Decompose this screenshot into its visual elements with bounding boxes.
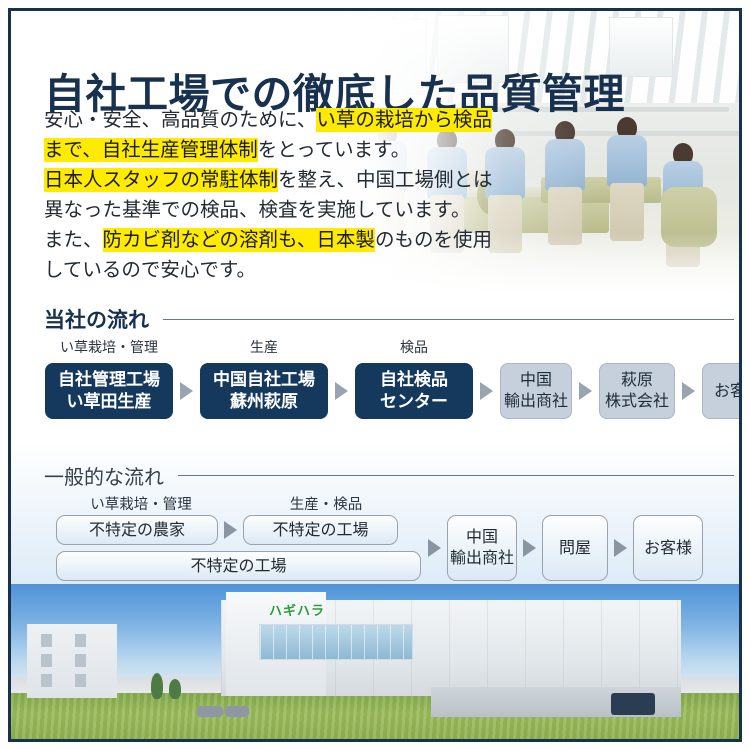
flow-box-inspection-center: 自社検品センター <box>355 363 473 419</box>
body-text: を整え、中国工場側とは <box>278 169 493 191</box>
glass-facade <box>259 624 413 660</box>
body-text: また、 <box>44 229 103 251</box>
body-line-4: 異なった基準での検品、検査を実施しています。 <box>44 195 494 225</box>
body-line-3: 日本人スタッフの常駐体制を整え、中国工場側とは <box>44 165 494 195</box>
tree <box>151 673 163 699</box>
flow-arrow-icon <box>523 539 536 557</box>
body-paragraph: 安心・安全、高品質のために、い草の栽培から検品 まで、自社生産管理体制をとってい… <box>44 105 494 285</box>
body-text: 安心・安全、高品質のために、 <box>44 109 316 131</box>
general-flow-heading: 一般的な流れ <box>44 461 734 490</box>
body-line-6: しているので安心です。 <box>44 255 494 285</box>
general-flow-caption: い草栽培・管理 <box>56 493 226 514</box>
flow-cell: お客様 <box>702 363 742 419</box>
office-building <box>27 624 117 698</box>
company-sign: ハギハラ <box>269 600 325 619</box>
body-line-5: また、防カビ剤などの溶剤も、日本製のものを使用 <box>44 225 494 255</box>
body-text: のものを使用 <box>375 229 492 251</box>
factory-exterior-photo: ハギハラ <box>11 584 739 739</box>
flow-arrow-icon <box>428 539 441 557</box>
company-flow-title: 当社の流れ <box>44 304 149 334</box>
flow-cell: 生産 中国自社工場蘇州萩原 <box>200 337 328 419</box>
tree <box>169 679 181 699</box>
general-box-unspecified-factory-wide: 不特定の工場 <box>56 551 421 581</box>
flow-arrow-icon <box>614 539 627 557</box>
company-flow-heading: 当社の流れ <box>44 304 734 334</box>
body-text: をとっています。 <box>258 139 411 161</box>
general-flow-caption: 生産・検品 <box>226 493 426 514</box>
flow-arrow-icon <box>180 382 193 400</box>
highlight-text: 日本人スタッフの常駐体制 <box>44 168 278 192</box>
flow-caption: 生産 <box>250 337 278 357</box>
infographic-page: 自社工場での徹底した品質管理 安心・安全、高品質のために、い草の栽培から検品 ま… <box>0 0 750 750</box>
flow-box-china-own-factory: 中国自社工場蘇州萩原 <box>200 363 328 419</box>
divider <box>163 319 734 320</box>
flow-arrow-icon <box>224 521 237 539</box>
flow-arrow-icon <box>335 382 348 400</box>
flow-cell: 萩原株式会社 <box>599 363 675 419</box>
flow-arrow-icon <box>682 382 695 400</box>
general-flow-title: 一般的な流れ <box>44 461 164 490</box>
general-box-wholesaler: 問屋 <box>542 515 608 581</box>
general-box-china-export-trader: 中国輸出商社 <box>447 515 517 581</box>
body-line-2: まで、自社生産管理体制をとっています。 <box>44 135 494 165</box>
highlight-text: い草の栽培から検品 <box>316 108 492 132</box>
general-box-unspecified-farmer: 不特定の農家 <box>56 515 218 545</box>
truck <box>611 693 655 715</box>
flow-cell: い草栽培・管理 自社管理工場い草田生産 <box>45 337 173 419</box>
flow-box-customer: お客様 <box>702 363 742 419</box>
content-frame: 自社工場での徹底した品質管理 安心・安全、高品質のために、い草の栽培から検品 ま… <box>8 8 742 742</box>
car <box>225 706 249 717</box>
divider <box>178 475 734 476</box>
flow-caption: 検品 <box>400 337 428 357</box>
general-flow-tail: 中国輸出商社 問屋 お客様 <box>428 515 703 581</box>
body-line-1: 安心・安全、高品質のために、い草の栽培から検品 <box>44 105 494 135</box>
flow-arrow-icon <box>579 382 592 400</box>
car <box>197 706 223 717</box>
flow-arrow-icon <box>480 382 493 400</box>
highlight-text: まで、自社生産管理体制 <box>44 138 258 162</box>
flow-cell: 中国輸出商社 <box>500 363 572 419</box>
company-flow-row: い草栽培・管理 自社管理工場い草田生産 生産 中国自社工場蘇州萩原 検品 自社検… <box>45 337 742 419</box>
highlight-text: 防カビ剤などの溶剤も、日本製 <box>103 228 375 252</box>
flow-caption: い草栽培・管理 <box>60 337 158 357</box>
general-box-customer: お客様 <box>633 515 703 581</box>
flow-box-hagihara-corp: 萩原株式会社 <box>599 363 675 419</box>
general-flow-captions: い草栽培・管理 生産・検品 <box>56 493 426 514</box>
general-box-unspecified-factory: 不特定の工場 <box>243 515 398 545</box>
flow-box-own-managed-factory: 自社管理工場い草田生産 <box>45 363 173 419</box>
general-flow-left-group: 不特定の農家 不特定の工場 不特定の工場 <box>56 515 421 581</box>
flow-box-china-export-trader: 中国輸出商社 <box>500 363 572 419</box>
flow-cell: 検品 自社検品センター <box>355 337 473 419</box>
